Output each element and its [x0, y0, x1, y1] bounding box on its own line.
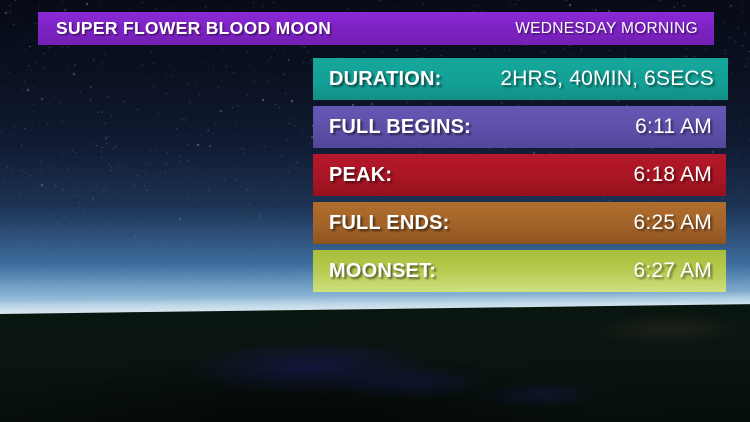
earth-shadow [0, 309, 750, 422]
row-label: FULL ENDS: [329, 212, 450, 235]
row-value: 6:11 AM [635, 115, 712, 139]
table-row-duration: DURATION: 2HRS, 40MIN, 6SECS [313, 58, 728, 100]
row-value: 2HRS, 40MIN, 6SECS [500, 67, 714, 91]
page-title: SUPER FLOWER BLOOD MOON [56, 18, 331, 39]
row-value: 6:25 AM [634, 211, 712, 235]
row-label: MOONSET: [329, 260, 436, 283]
row-value: 6:18 AM [634, 163, 712, 187]
table-row-full-ends: FULL ENDS: 6:25 AM [313, 202, 726, 244]
weather-graphic: SUPER FLOWER BLOOD MOON WEDNESDAY MORNIN… [0, 0, 750, 422]
row-label: PEAK: [329, 164, 392, 187]
eclipse-times-table: DURATION: 2HRS, 40MIN, 6SECS FULL BEGINS… [313, 58, 728, 298]
row-label: DURATION: [329, 68, 442, 91]
row-value: 6:27 AM [634, 259, 712, 283]
timeframe-label: WEDNESDAY MORNING [515, 20, 698, 38]
row-label: FULL BEGINS: [329, 116, 471, 139]
table-row-moonset: MOONSET: 6:27 AM [313, 250, 726, 292]
title-bar: SUPER FLOWER BLOOD MOON WEDNESDAY MORNIN… [38, 12, 714, 45]
table-row-full-begins: FULL BEGINS: 6:11 AM [313, 106, 726, 148]
table-row-peak: PEAK: 6:18 AM [313, 154, 726, 196]
